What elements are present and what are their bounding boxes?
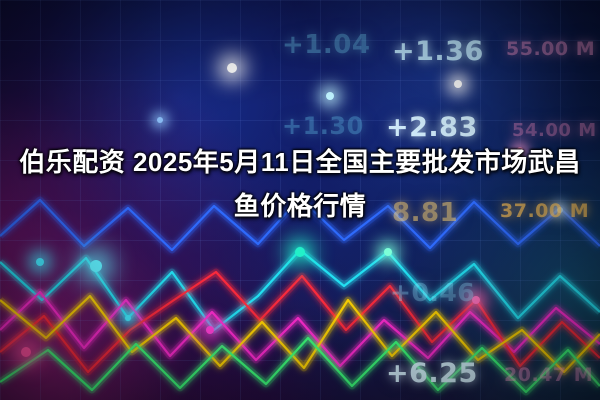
image-canvas: +1.04+1.3655.00 M+1.30+2.8354.00 M8.8137… [0,0,600,400]
page-title: 伯乐配资 2025年5月11日全国主要批发市场武昌鱼价格行情 [18,140,582,228]
title-overlay: 伯乐配资 2025年5月11日全国主要批发市场武昌鱼价格行情 [0,140,600,228]
